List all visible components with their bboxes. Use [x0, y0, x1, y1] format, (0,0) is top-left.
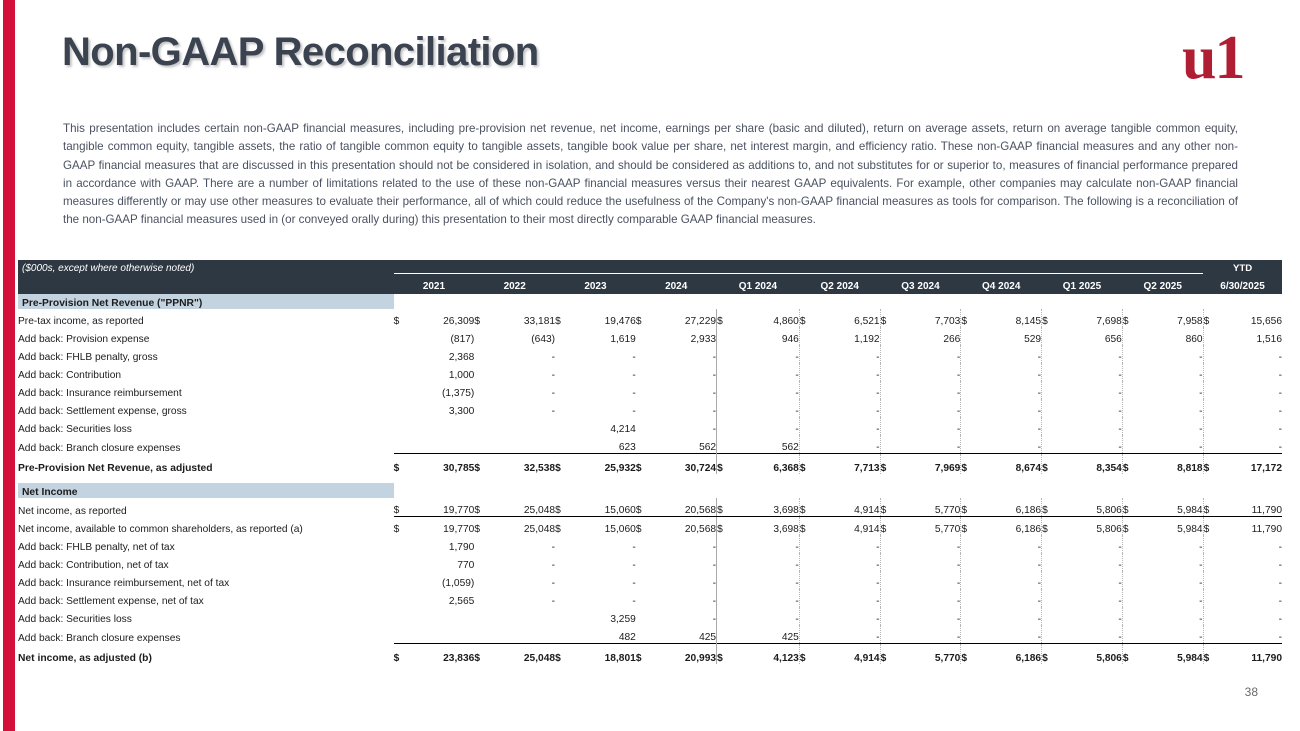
table-row-value-8: 5,806 [1056, 498, 1123, 517]
table-row-currency-7 [961, 399, 975, 417]
table-row-value-10: - [1217, 381, 1282, 399]
table-row-currency-2 [555, 399, 569, 417]
table-row-currency-3 [636, 327, 650, 345]
total-row-value-10: 17,172 [1217, 454, 1282, 475]
total-row: Pre-Provision Net Revenue, as adjusted$3… [18, 454, 1282, 475]
total-row-currency-9: $ [1122, 644, 1136, 665]
table-row-currency-7 [961, 363, 975, 381]
disclaimer-paragraph: This presentation includes certain non-G… [63, 120, 1238, 230]
table-row-currency-1 [474, 607, 488, 625]
table-row-currency-6 [880, 589, 894, 607]
table-row-currency-9 [1122, 553, 1136, 571]
total-row-value-4: 6,368 [733, 454, 800, 475]
header-col-q1-2024: Q1 2024 [717, 274, 800, 295]
table-row-value-9: - [1136, 571, 1203, 589]
table-row-value-3: - [650, 553, 717, 571]
table-row-currency-6 [880, 381, 894, 399]
table-row-currency-1 [474, 535, 488, 553]
table-row-currency-5 [799, 363, 813, 381]
total-row-value-10: 11,790 [1217, 644, 1282, 665]
table-row-value-4: - [733, 589, 800, 607]
header-col-2022: 2022 [474, 274, 555, 295]
table-row-currency-1 [474, 553, 488, 571]
header-col-ytd-date: 6/30/2025 [1203, 274, 1282, 295]
table-row-currency-7 [961, 571, 975, 589]
table-row-currency-10 [1203, 607, 1217, 625]
total-row-value-0: 23,836 [408, 644, 475, 665]
table-row-value-2: 1,619 [569, 327, 636, 345]
table-row-currency-5: $ [799, 517, 813, 536]
table-row-value-9: - [1136, 435, 1203, 454]
table-row-currency-7 [961, 417, 975, 435]
table-row-currency-0 [394, 571, 408, 589]
table-row: Add back: Securities loss3,259-------- [18, 607, 1282, 625]
table-row-currency-2 [555, 435, 569, 454]
table-row-currency-5: $ [799, 498, 813, 517]
table-row: Add back: Settlement expense, net of tax… [18, 589, 1282, 607]
table-row-currency-9 [1122, 535, 1136, 553]
table-row-currency-0 [394, 535, 408, 553]
table-row-currency-5 [799, 327, 813, 345]
row-label: Add back: Settlement expense, net of tax [18, 589, 394, 607]
table-row-currency-3: $ [636, 498, 650, 517]
table-row-value-3: - [650, 345, 717, 363]
table-row-value-6: - [894, 345, 961, 363]
table-row-value-2: - [569, 571, 636, 589]
table-row-value-2: - [569, 381, 636, 399]
table-row-value-6: - [894, 607, 961, 625]
table-row-value-1: 25,048 [488, 498, 555, 517]
table-row-value-5: - [813, 399, 880, 417]
table-row-currency-9 [1122, 607, 1136, 625]
table-row-value-9: - [1136, 535, 1203, 553]
total-row-currency-5: $ [799, 644, 813, 665]
row-label: Pre-tax income, as reported [18, 309, 394, 327]
table-row-currency-4 [717, 553, 733, 571]
section-spacer [18, 474, 1282, 483]
table-row-value-6: - [894, 571, 961, 589]
table-row-value-10: - [1217, 625, 1282, 644]
table-row: Add back: Branch closure expenses6235625… [18, 435, 1282, 454]
header-col-q4-2024: Q4 2024 [961, 274, 1042, 295]
table-row-value-10: - [1217, 535, 1282, 553]
table-row-currency-1 [474, 417, 488, 435]
table-row-value-4: - [733, 345, 800, 363]
total-row-currency-8: $ [1042, 644, 1056, 665]
table-row-currency-8 [1042, 435, 1056, 454]
total-row-currency-3: $ [636, 454, 650, 475]
table-row-currency-1 [474, 381, 488, 399]
total-row: Net income, as adjusted (b)$23,836$25,04… [18, 644, 1282, 665]
table-row-value-2: 3,259 [569, 607, 636, 625]
table-row-value-8: - [1056, 381, 1123, 399]
table-row-value-8: 5,806 [1056, 517, 1123, 536]
table-row-currency-2 [555, 327, 569, 345]
table-row-currency-6 [880, 571, 894, 589]
table-row-currency-3 [636, 435, 650, 454]
row-label: Add back: Branch closure expenses [18, 435, 394, 454]
table-row-value-4: - [733, 417, 800, 435]
table-row-currency-1: $ [474, 309, 488, 327]
table-row-value-8: - [1056, 399, 1123, 417]
table-row-currency-0 [394, 435, 408, 454]
table-row-value-4: 425 [733, 625, 800, 644]
table-row-currency-9 [1122, 589, 1136, 607]
table-row-value-3: 27,229 [650, 309, 717, 327]
total-row-value-1: 32,538 [488, 454, 555, 475]
row-label: Add back: Branch closure expenses [18, 625, 394, 644]
table-row-currency-9 [1122, 571, 1136, 589]
table-row-currency-4 [717, 435, 733, 454]
table-row-value-1: - [488, 363, 555, 381]
total-row-currency-5: $ [799, 454, 813, 475]
table-row-value-5: 1,192 [813, 327, 880, 345]
table-row-value-6: 5,770 [894, 517, 961, 536]
table-row-value-9: - [1136, 381, 1203, 399]
table-row-value-3: - [650, 535, 717, 553]
table-row-currency-0 [394, 327, 408, 345]
section-header-row: Net Income [18, 483, 1282, 498]
table-row-currency-7 [961, 381, 975, 399]
table-row-value-4: 946 [733, 327, 800, 345]
table-row-value-7: - [975, 399, 1042, 417]
table-row-value-8: - [1056, 553, 1123, 571]
table-row-value-10: - [1217, 607, 1282, 625]
table-row: Add back: Insurance reimbursement, net o… [18, 571, 1282, 589]
table-row-value-6: - [894, 363, 961, 381]
table-row-value-9: - [1136, 625, 1203, 644]
table-row-value-4: - [733, 571, 800, 589]
header-spacer [394, 260, 1204, 274]
table-row-value-7: 8,145 [975, 309, 1042, 327]
table-row-currency-9: $ [1122, 309, 1136, 327]
table-row-currency-8 [1042, 607, 1056, 625]
table-row-value-2: - [569, 345, 636, 363]
table-row-currency-2 [555, 535, 569, 553]
total-row-value-6: 5,770 [894, 644, 961, 665]
table-row-value-0: 770 [408, 553, 475, 571]
table-row-currency-0 [394, 399, 408, 417]
table-row-value-1: (643) [488, 327, 555, 345]
table-row-currency-2 [555, 625, 569, 644]
table-row-currency-8 [1042, 363, 1056, 381]
table-row-currency-7 [961, 589, 975, 607]
table-row-value-3: - [650, 571, 717, 589]
table-row-value-4: 3,698 [733, 517, 800, 536]
total-row-currency-7: $ [961, 644, 975, 665]
table-row-value-8: - [1056, 363, 1123, 381]
table-row-currency-3 [636, 399, 650, 417]
table-row-value-7: - [975, 435, 1042, 454]
table-row-value-6: - [894, 399, 961, 417]
table-row: Add back: Settlement expense, gross3,300… [18, 399, 1282, 417]
table-row-value-4: - [733, 553, 800, 571]
table-row-currency-4: $ [717, 309, 733, 327]
spacer-cell [18, 474, 1282, 483]
table-row-value-6: - [894, 435, 961, 454]
table-row-value-3: 20,568 [650, 498, 717, 517]
table-row-currency-1 [474, 399, 488, 417]
table-row-value-0: 3,300 [408, 399, 475, 417]
table-row-value-5: - [813, 607, 880, 625]
table-row-value-0: (1,375) [408, 381, 475, 399]
table-row-currency-8: $ [1042, 517, 1056, 536]
table-row-currency-8 [1042, 417, 1056, 435]
table-row-currency-4 [717, 589, 733, 607]
table-row-value-5: - [813, 417, 880, 435]
table-row-value-1: - [488, 399, 555, 417]
table-row-value-6: 266 [894, 327, 961, 345]
table-row-currency-2 [555, 607, 569, 625]
header-col-q3-2024: Q3 2024 [880, 274, 961, 295]
non-gaap-reconciliation-table: ($000s, except where otherwise noted) YT… [18, 260, 1282, 664]
table-row-value-10: - [1217, 435, 1282, 454]
table-row-value-5: - [813, 571, 880, 589]
table-row-value-5: 4,914 [813, 517, 880, 536]
table-row-currency-6 [880, 535, 894, 553]
table-row-value-5: - [813, 553, 880, 571]
total-row-value-4: 4,123 [733, 644, 800, 665]
table-row: Net income, available to common sharehol… [18, 517, 1282, 536]
table-row-currency-0 [394, 589, 408, 607]
total-row-value-5: 7,713 [813, 454, 880, 475]
header-blank-cell [18, 274, 394, 295]
total-row-currency-1: $ [474, 454, 488, 475]
table-row-currency-0 [394, 607, 408, 625]
table-row-value-3: 562 [650, 435, 717, 454]
table-row-value-10: 11,790 [1217, 517, 1282, 536]
table-header: ($000s, except where otherwise noted) YT… [18, 260, 1282, 294]
total-row-currency-2: $ [555, 644, 569, 665]
total-row-currency-0: $ [394, 454, 408, 475]
table-row-currency-7 [961, 607, 975, 625]
table-row-value-0: 1,790 [408, 535, 475, 553]
table-row-value-0 [408, 417, 475, 435]
table-row-currency-6 [880, 363, 894, 381]
table-row-currency-1 [474, 625, 488, 644]
table-row-value-2: - [569, 535, 636, 553]
table-row-currency-3: $ [636, 517, 650, 536]
table-row-currency-3 [636, 345, 650, 363]
row-label: Add back: Securities loss [18, 417, 394, 435]
table-row-value-1 [488, 435, 555, 454]
table-row-currency-8 [1042, 381, 1056, 399]
table-row-value-4: 562 [733, 435, 800, 454]
table-row-value-8: - [1056, 589, 1123, 607]
table-row-currency-10 [1203, 589, 1217, 607]
table-row-currency-9: $ [1122, 517, 1136, 536]
table-row-currency-7: $ [961, 309, 975, 327]
table-row-value-0 [408, 607, 475, 625]
table-row-value-6: - [894, 553, 961, 571]
total-row-currency-2: $ [555, 454, 569, 475]
table-row-value-6: - [894, 625, 961, 644]
table-row-currency-2: $ [555, 309, 569, 327]
table-row: Add back: Contribution, net of tax770---… [18, 553, 1282, 571]
table-row-currency-1 [474, 327, 488, 345]
table-row-value-8: 7,698 [1056, 309, 1123, 327]
table-row-currency-5 [799, 571, 813, 589]
table-row-currency-6: $ [880, 309, 894, 327]
table-row-currency-9 [1122, 327, 1136, 345]
header-col-2021: 2021 [394, 274, 475, 295]
table-row-currency-5 [799, 417, 813, 435]
row-label: Pre-Provision Net Revenue, as adjusted [18, 454, 394, 475]
total-row-currency-6: $ [880, 454, 894, 475]
table-row-value-8: - [1056, 345, 1123, 363]
table-row-value-7: - [975, 571, 1042, 589]
table-row-value-0 [408, 435, 475, 454]
table-row-value-1: - [488, 535, 555, 553]
table-row-value-0: (817) [408, 327, 475, 345]
table-row-currency-8 [1042, 399, 1056, 417]
table-row-value-2: 4,214 [569, 417, 636, 435]
table-row-currency-10 [1203, 345, 1217, 363]
table-row-currency-3 [636, 553, 650, 571]
table-row-currency-4 [717, 399, 733, 417]
table-row-value-1: - [488, 553, 555, 571]
row-label: Add back: Contribution [18, 363, 394, 381]
table-row-currency-4 [717, 417, 733, 435]
table-row-value-10: - [1217, 571, 1282, 589]
table-row-currency-3: $ [636, 309, 650, 327]
table-row-currency-7 [961, 553, 975, 571]
table-row-value-0: 19,770 [408, 498, 475, 517]
table-row-value-8: - [1056, 435, 1123, 454]
table-row-value-7: - [975, 625, 1042, 644]
total-row-currency-0: $ [394, 644, 408, 665]
table-row-currency-7 [961, 435, 975, 454]
table-row-value-8: - [1056, 625, 1123, 644]
table-row: Add back: FHLB penalty, gross2,368------… [18, 345, 1282, 363]
table-row-currency-4 [717, 571, 733, 589]
total-row-value-2: 18,801 [569, 644, 636, 665]
table-row-value-2: 482 [569, 625, 636, 644]
table-row-currency-8 [1042, 553, 1056, 571]
table-row-currency-4 [717, 625, 733, 644]
row-label: Add back: FHLB penalty, gross [18, 345, 394, 363]
table-row-value-6: - [894, 417, 961, 435]
total-row-currency-7: $ [961, 454, 975, 475]
table-row-currency-2: $ [555, 498, 569, 517]
table-row-currency-0 [394, 553, 408, 571]
table-row-value-2: - [569, 589, 636, 607]
header-units-row: ($000s, except where otherwise noted) YT… [18, 260, 1282, 274]
reconciliation-table-wrapper: ($000s, except where otherwise noted) YT… [18, 260, 1282, 664]
total-row-currency-1: $ [474, 644, 488, 665]
table-row-currency-3 [636, 625, 650, 644]
total-row-currency-8: $ [1042, 454, 1056, 475]
table-row-value-9: - [1136, 363, 1203, 381]
table-row-value-4: - [733, 399, 800, 417]
table-row-value-9: - [1136, 553, 1203, 571]
table-row-currency-4 [717, 381, 733, 399]
table-row-value-1: - [488, 345, 555, 363]
table-row-currency-4 [717, 363, 733, 381]
table-row-value-0: (1,059) [408, 571, 475, 589]
table-row-value-8: - [1056, 417, 1123, 435]
table-row-value-5: - [813, 435, 880, 454]
row-label: Add back: Insurance reimbursement [18, 381, 394, 399]
table-row-value-5: - [813, 381, 880, 399]
table-row: Add back: Contribution1,000---------- [18, 363, 1282, 381]
table-row-value-7: - [975, 363, 1042, 381]
table-row-currency-9 [1122, 363, 1136, 381]
table-row-currency-9 [1122, 435, 1136, 454]
row-label: Add back: Settlement expense, gross [18, 399, 394, 417]
table-row-currency-9 [1122, 417, 1136, 435]
table-row-currency-6 [880, 399, 894, 417]
table-row-value-4: 4,860 [733, 309, 800, 327]
table-row-value-5: - [813, 589, 880, 607]
table-row-currency-6 [880, 625, 894, 644]
total-row-value-7: 8,674 [975, 454, 1042, 475]
table-row-value-6: 7,703 [894, 309, 961, 327]
table-row-currency-2 [555, 345, 569, 363]
table-row-currency-6 [880, 553, 894, 571]
units-note: ($000s, except where otherwise noted) [18, 260, 394, 274]
table-row-currency-4: $ [717, 517, 733, 536]
table-row-value-6: - [894, 535, 961, 553]
table-row-currency-9 [1122, 381, 1136, 399]
table-row-value-10: 11,790 [1217, 498, 1282, 517]
table-row-currency-0 [394, 345, 408, 363]
row-label: Add back: Securities loss [18, 607, 394, 625]
table-row-value-5: 4,914 [813, 498, 880, 517]
table-row-currency-3 [636, 607, 650, 625]
ytd-label: YTD [1203, 260, 1282, 274]
table-row-value-2: 623 [569, 435, 636, 454]
table-row-currency-10 [1203, 399, 1217, 417]
table-row-value-4: - [733, 381, 800, 399]
table-row-currency-7 [961, 535, 975, 553]
table-row-value-2: 19,476 [569, 309, 636, 327]
total-row-value-9: 5,984 [1136, 644, 1203, 665]
table-row-currency-5: $ [799, 309, 813, 327]
table-row-currency-8 [1042, 589, 1056, 607]
table-row-value-3: - [650, 589, 717, 607]
table-row-value-5: - [813, 345, 880, 363]
row-label: Add back: Contribution, net of tax [18, 553, 394, 571]
table-row-value-5: - [813, 363, 880, 381]
table-row-value-7: - [975, 345, 1042, 363]
table-row-value-0: 19,770 [408, 517, 475, 536]
header-col-q2-2025: Q2 2025 [1122, 274, 1203, 295]
page-number: 38 [1245, 685, 1258, 699]
table-row-currency-5 [799, 625, 813, 644]
table-row-value-10: - [1217, 553, 1282, 571]
table-row-currency-10 [1203, 417, 1217, 435]
table-row-currency-10 [1203, 553, 1217, 571]
table-row-currency-3 [636, 589, 650, 607]
table-row-value-9: 5,984 [1136, 498, 1203, 517]
table-row-currency-5 [799, 435, 813, 454]
table-row-value-3: - [650, 399, 717, 417]
table-row-currency-2 [555, 589, 569, 607]
table-row-value-7: - [975, 381, 1042, 399]
row-label: Net income, available to common sharehol… [18, 517, 394, 536]
total-row-value-7: 6,186 [975, 644, 1042, 665]
table-row-currency-8 [1042, 345, 1056, 363]
table-row-currency-10: $ [1203, 498, 1217, 517]
table-row-value-7: - [975, 535, 1042, 553]
section-header-row: Pre-Provision Net Revenue ("PPNR") [18, 294, 1282, 309]
table-row-value-1 [488, 607, 555, 625]
table-row-currency-4 [717, 535, 733, 553]
table-row-currency-7 [961, 345, 975, 363]
table-row-currency-0 [394, 363, 408, 381]
total-row-currency-10: $ [1203, 644, 1217, 665]
